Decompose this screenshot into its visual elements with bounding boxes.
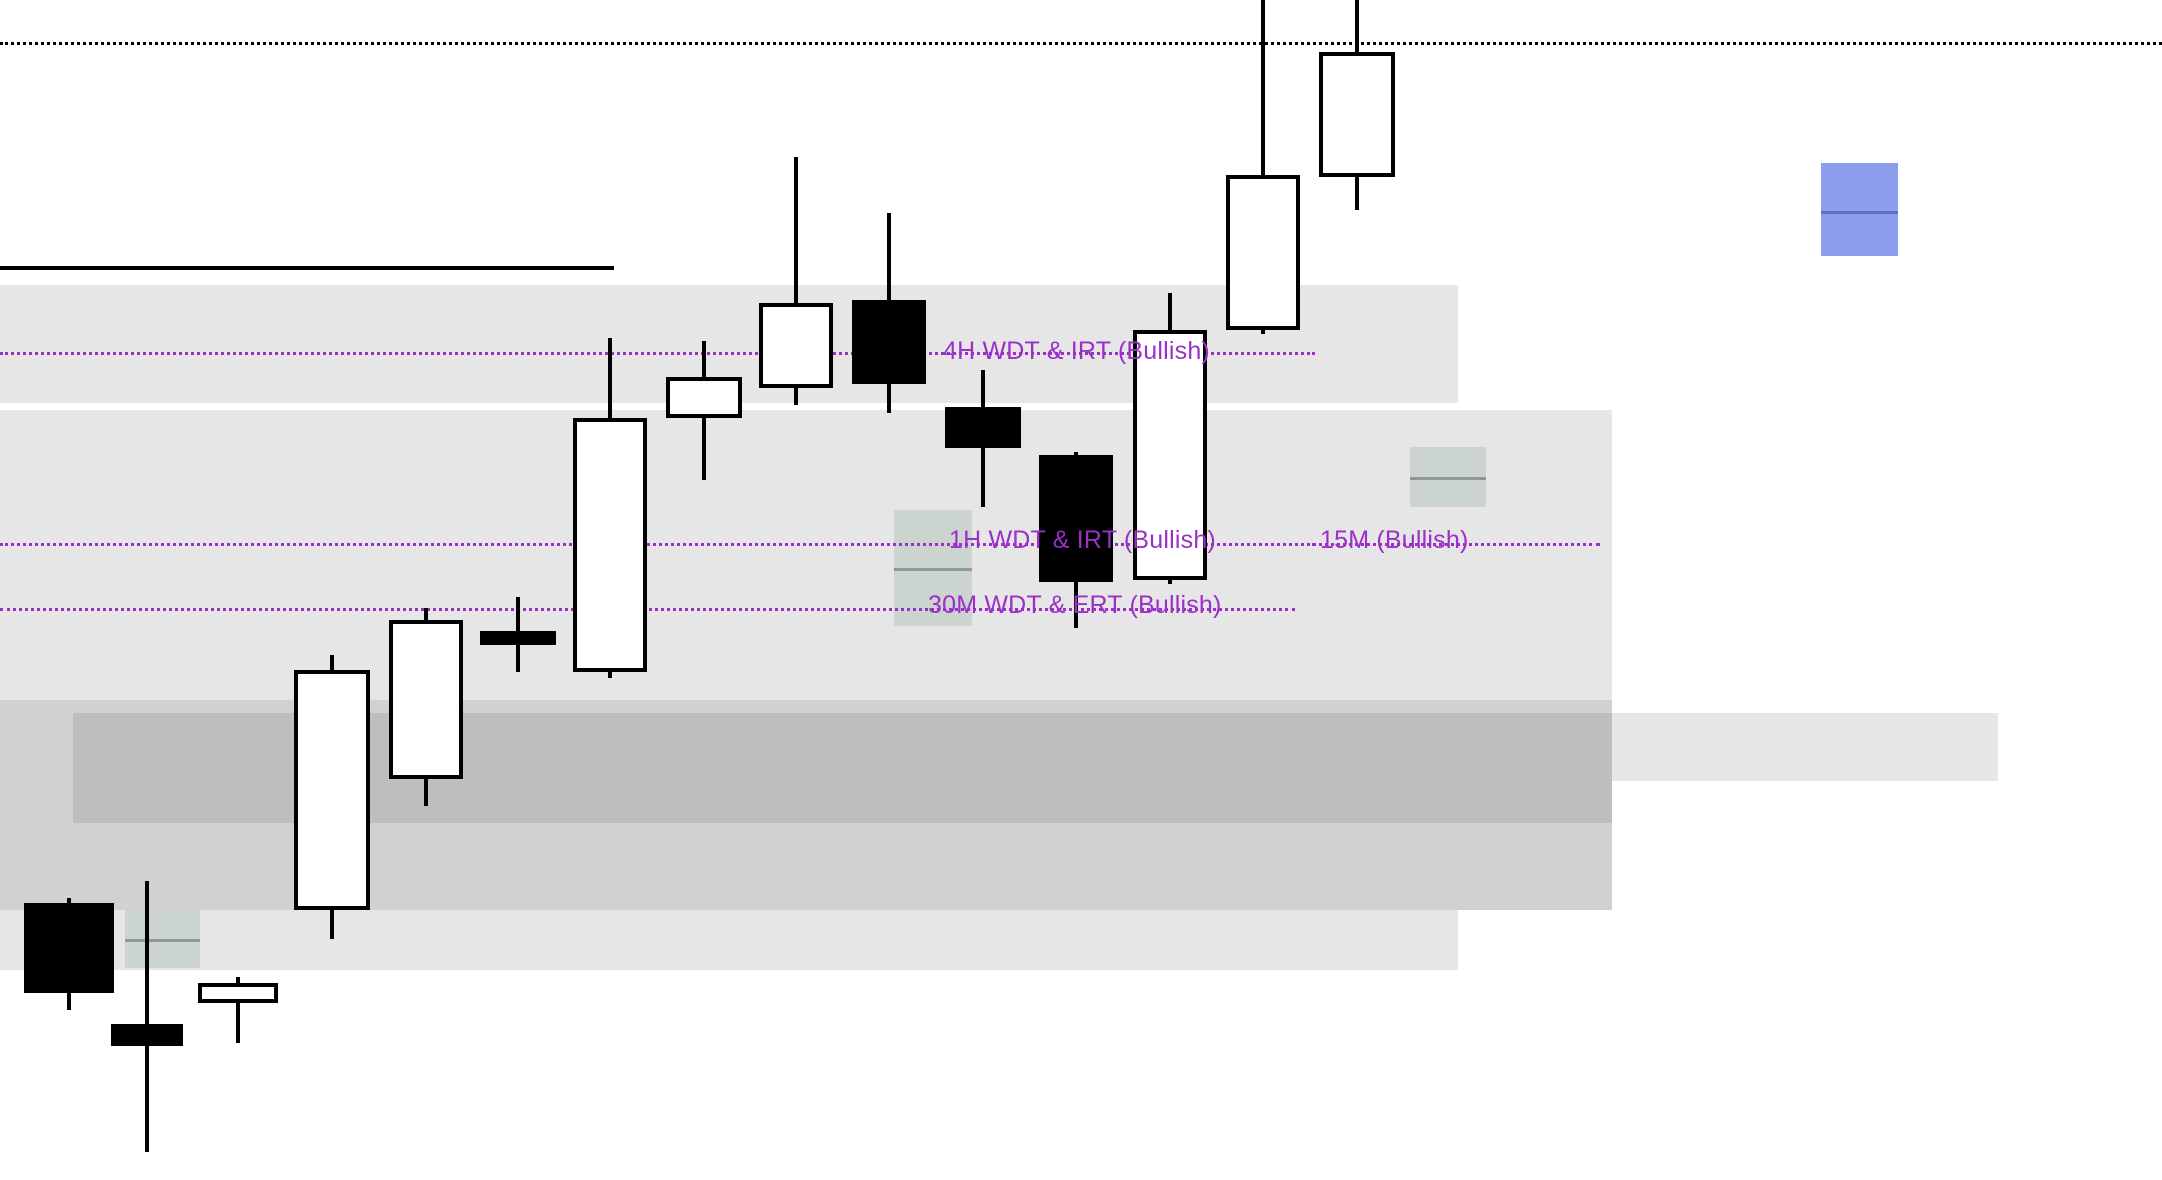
label-15m: 15M (Bullish) (1320, 526, 1468, 555)
fvg-bullish-4 (1821, 163, 1898, 256)
structure-line (0, 266, 614, 270)
candle-body-down (24, 903, 114, 993)
candle-body-up (1319, 52, 1395, 177)
candle-body-down (852, 300, 926, 384)
label-1h: 1H WDT & IRT (Bullish) (949, 526, 1216, 555)
candle-body-up (294, 670, 370, 910)
15m-zone (1612, 713, 1998, 781)
candle-body-down (111, 1024, 183, 1046)
candle-body-up (666, 377, 742, 418)
4h-lower-zone (0, 410, 1612, 700)
fvg-bullish-4-midline (1821, 211, 1898, 214)
fvg-bullish-2-midline (894, 568, 972, 571)
top-dotted-level (0, 42, 2162, 45)
candle-body-up (759, 303, 833, 388)
candle-body-up (198, 983, 278, 1003)
lower-light-zone (0, 910, 1458, 970)
candle-wick (145, 881, 149, 1152)
label-4h: 4H WDT & IRT (Bullish) (943, 337, 1210, 366)
candle-body-down (1039, 455, 1113, 582)
candle-body-up (1226, 175, 1300, 330)
label-30m: 30M WDT & ERT (Bullish) (928, 591, 1222, 620)
candlestick-chart: 4H WDT & IRT (Bullish)1H WDT & IRT (Bull… (0, 0, 2162, 1180)
candle-body-down (945, 407, 1021, 448)
fvg-bullish-3-midline (1410, 477, 1486, 480)
candle-body-down (480, 631, 556, 645)
fvg-bullish-1-midline (125, 939, 200, 942)
candle-body-up (389, 620, 463, 779)
candle-body-up (573, 418, 647, 672)
